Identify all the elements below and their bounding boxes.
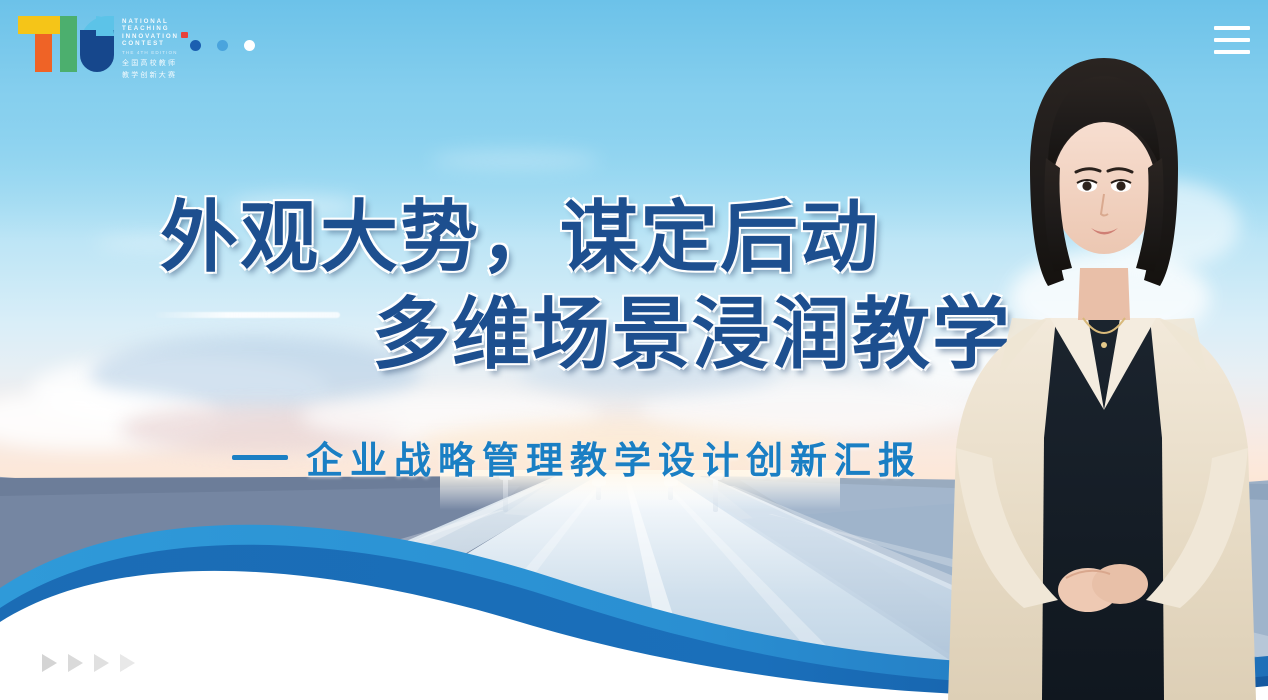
logo-en-line-2: TEACHING: [122, 25, 179, 32]
hamburger-menu-icon[interactable]: [1214, 26, 1250, 54]
presenter-portrait: [938, 18, 1268, 700]
slide-canvas: 外观大势，谋定后动 多维场景浸润教学 企业战略管理教学设计创新汇报: [0, 0, 1268, 700]
play-arrow-icon[interactable]: [68, 654, 83, 672]
progress-dot-3[interactable]: [244, 40, 255, 51]
logo-cn-line-1: 全国高校教师: [122, 59, 179, 68]
logo-en-line-1: NATIONAL: [122, 18, 179, 25]
play-arrows[interactable]: [42, 654, 135, 672]
progress-dots: [190, 40, 255, 51]
play-arrow-icon[interactable]: [42, 654, 57, 672]
play-arrow-icon[interactable]: [120, 654, 135, 672]
logo-en-line-4: CONTEST: [122, 40, 179, 47]
play-arrow-icon[interactable]: [94, 654, 109, 672]
logo-red-dot-icon: [181, 32, 188, 38]
logo-wordmark: NATIONAL TEACHING INNOVATION CONTEST THE…: [122, 14, 179, 80]
tic-logo-icon: [18, 14, 114, 72]
menu-line-3: [1214, 50, 1250, 54]
progress-dot-1[interactable]: [190, 40, 201, 51]
logo-cn-line-2: 教学创新大赛: [122, 71, 179, 80]
menu-line-1: [1214, 26, 1250, 30]
menu-line-2: [1214, 38, 1250, 42]
progress-dot-2[interactable]: [217, 40, 228, 51]
logo-block[interactable]: NATIONAL TEACHING INNOVATION CONTEST THE…: [18, 14, 179, 80]
top-bar: NATIONAL TEACHING INNOVATION CONTEST THE…: [0, 0, 1268, 92]
logo-en-line-3: INNOVATION: [122, 33, 179, 40]
logo-en-small: THE 4TH EDITION: [122, 50, 179, 56]
